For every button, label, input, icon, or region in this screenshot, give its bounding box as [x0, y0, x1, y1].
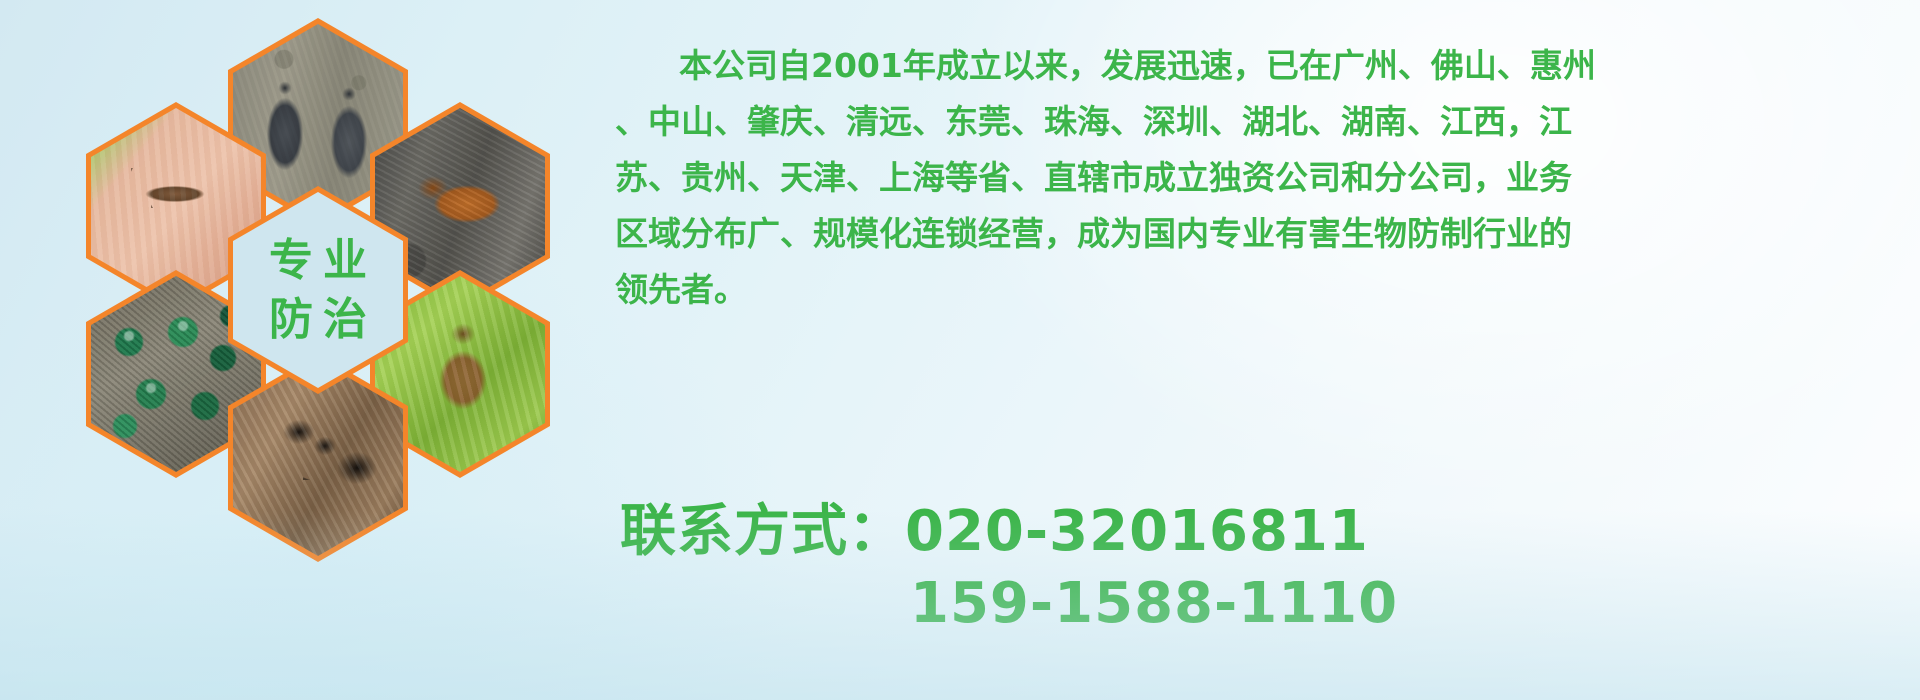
- logo-line-1: 专业: [259, 231, 377, 290]
- promo-banner: 专业 防治 本公司自2001年成立以来，发展迅速，已在广州、佛山、惠州 、中山、…: [0, 0, 1920, 700]
- hexagon-photo-cluster: 专业 防治: [80, 10, 600, 570]
- intro-line-3: 苏、贵州、天津、上海等省、直辖市成立独资公司和分公司，业务: [615, 150, 1865, 206]
- contact-block: 联系方式：020-32016811 159-1588-1110: [620, 496, 1900, 640]
- contact-phone-primary[interactable]: 联系方式：020-32016811: [620, 496, 1900, 568]
- intro-paragraph: 本公司自2001年成立以来，发展迅速，已在广州、佛山、惠州 、中山、肇庆、清远、…: [615, 38, 1865, 318]
- contact-phone-secondary[interactable]: 159-1588-1110: [620, 568, 1900, 640]
- intro-line-1: 本公司自2001年成立以来，发展迅速，已在广州、佛山、惠州: [615, 38, 1865, 94]
- intro-line-4: 区域分布广、规模化连锁经营，成为国内专业有害生物防制行业的: [615, 206, 1865, 262]
- intro-line-2: 、中山、肇庆、清远、东莞、珠海、深圳、湖北、湖南、江西，江: [615, 94, 1865, 150]
- intro-line-5: 领先者。: [615, 262, 1865, 318]
- logo-line-2: 防治: [259, 290, 377, 349]
